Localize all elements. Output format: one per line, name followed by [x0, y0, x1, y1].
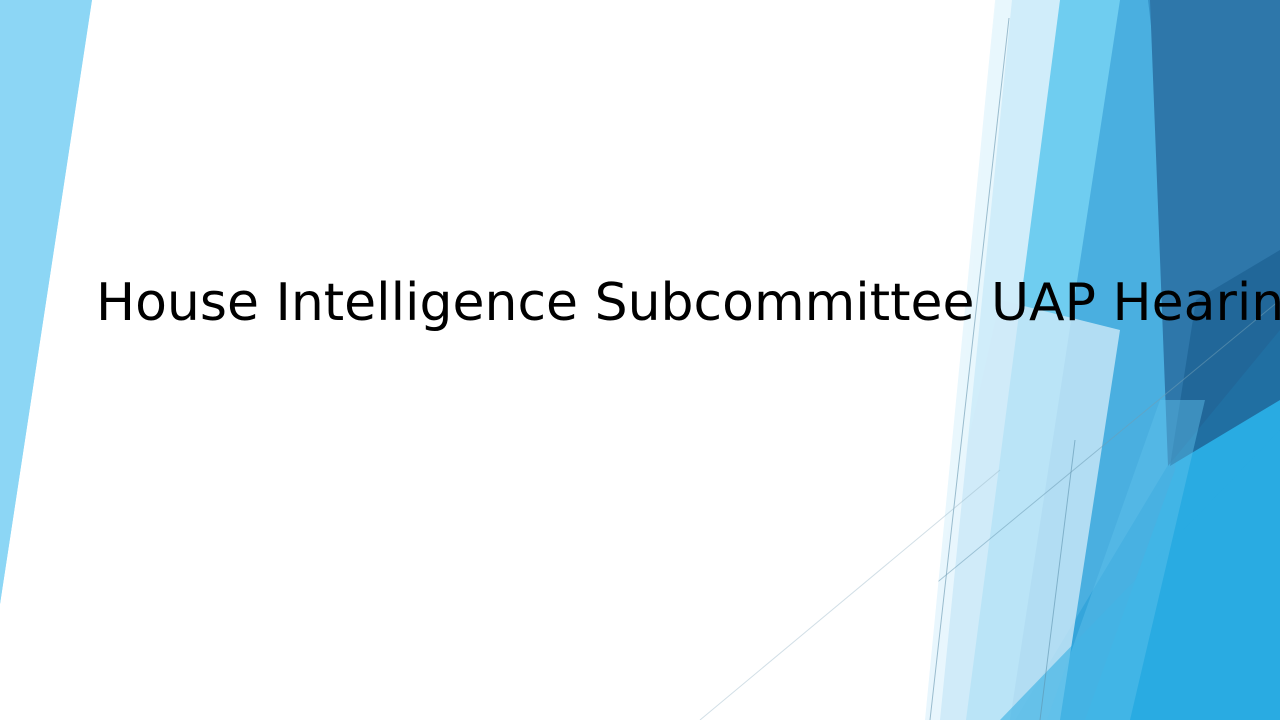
left-blue-wedge	[0, 0, 92, 604]
slide-background-decoration	[0, 0, 1280, 720]
light-bottom-wedge	[1047, 400, 1205, 720]
vivid-cyan-bottom-wedge	[1015, 300, 1280, 720]
hairline-secondary	[1040, 440, 1075, 720]
pale-overlay-lower-triangle	[905, 300, 1120, 720]
page-title: House Intelligence Subcommittee UAP Hear…	[96, 274, 1280, 332]
very-pale-sliver	[922, 0, 1012, 720]
background-base	[0, 0, 1280, 720]
pale-blue-left-triangle	[912, 0, 1060, 720]
presentation-slide: House Intelligence Subcommittee UAP Hear…	[0, 0, 1280, 720]
hairline-white-area	[700, 470, 1000, 720]
left-blue-wedge-top	[0, 0, 92, 604]
hairline-diagonal	[770, 300, 1280, 720]
white-mask-left-of-band	[0, 0, 995, 720]
cyan-diagonal-overlay	[1000, 430, 1280, 720]
right-edge-deep-sliver	[1240, 0, 1280, 300]
slide-title-placeholder[interactable]: House Intelligence Subcommittee UAP Hear…	[96, 258, 996, 348]
steel-blue-down-triangle	[1150, 0, 1280, 466]
right-deep-blue-band	[1055, 0, 1280, 720]
mid-blue-wedge	[1010, 0, 1200, 720]
sky-blue-main-wedge	[935, 0, 1232, 720]
hairline-steep	[930, 18, 1009, 720]
